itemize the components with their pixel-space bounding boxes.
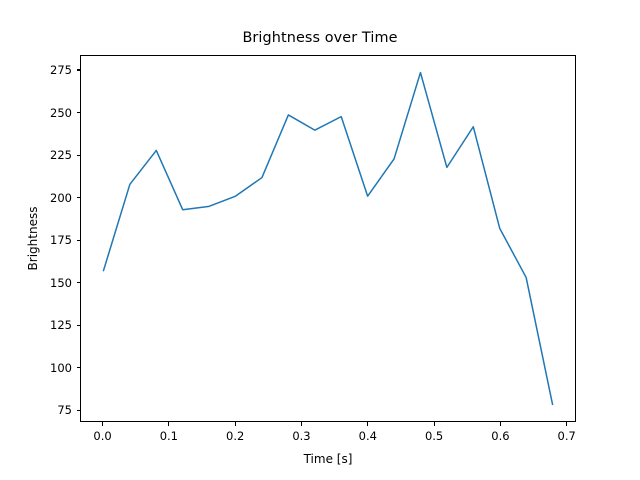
x-tick-label: 0.4 bbox=[359, 429, 377, 443]
x-axis-label: Time [s] bbox=[80, 452, 576, 466]
y-tick-mark bbox=[77, 282, 81, 283]
x-tick-label: 0.1 bbox=[160, 429, 178, 443]
y-tick-mark bbox=[77, 155, 81, 156]
y-tick-mark bbox=[77, 69, 81, 70]
x-tick-label: 0.3 bbox=[292, 429, 310, 443]
y-tick-mark bbox=[77, 325, 81, 326]
x-tick-mark bbox=[102, 422, 103, 426]
chart-title: Brightness over Time bbox=[0, 30, 640, 46]
x-tick-mark bbox=[301, 422, 302, 426]
x-tick-mark bbox=[235, 422, 236, 426]
brightness-line bbox=[103, 73, 552, 405]
x-tick-mark bbox=[168, 422, 169, 426]
x-tick-label: 0.2 bbox=[226, 429, 244, 443]
x-tick-label: 0.7 bbox=[558, 429, 576, 443]
figure-canvas: Brightness over Time 7510012515017520022… bbox=[0, 0, 640, 480]
y-tick-mark bbox=[77, 410, 81, 411]
y-axis-label: Brightness bbox=[22, 55, 44, 422]
x-tick-label: 0.0 bbox=[93, 429, 111, 443]
y-tick-mark bbox=[77, 367, 81, 368]
y-tick-mark bbox=[77, 197, 81, 198]
plot-area bbox=[80, 55, 576, 422]
x-tick-mark bbox=[434, 422, 435, 426]
x-tick-label: 0.5 bbox=[425, 429, 443, 443]
line-series-svg bbox=[81, 56, 575, 421]
x-tick-label: 0.6 bbox=[491, 429, 509, 443]
x-tick-mark bbox=[500, 422, 501, 426]
y-tick-mark bbox=[77, 112, 81, 113]
y-tick-mark bbox=[77, 240, 81, 241]
x-tick-mark bbox=[566, 422, 567, 426]
x-tick-mark bbox=[367, 422, 368, 426]
